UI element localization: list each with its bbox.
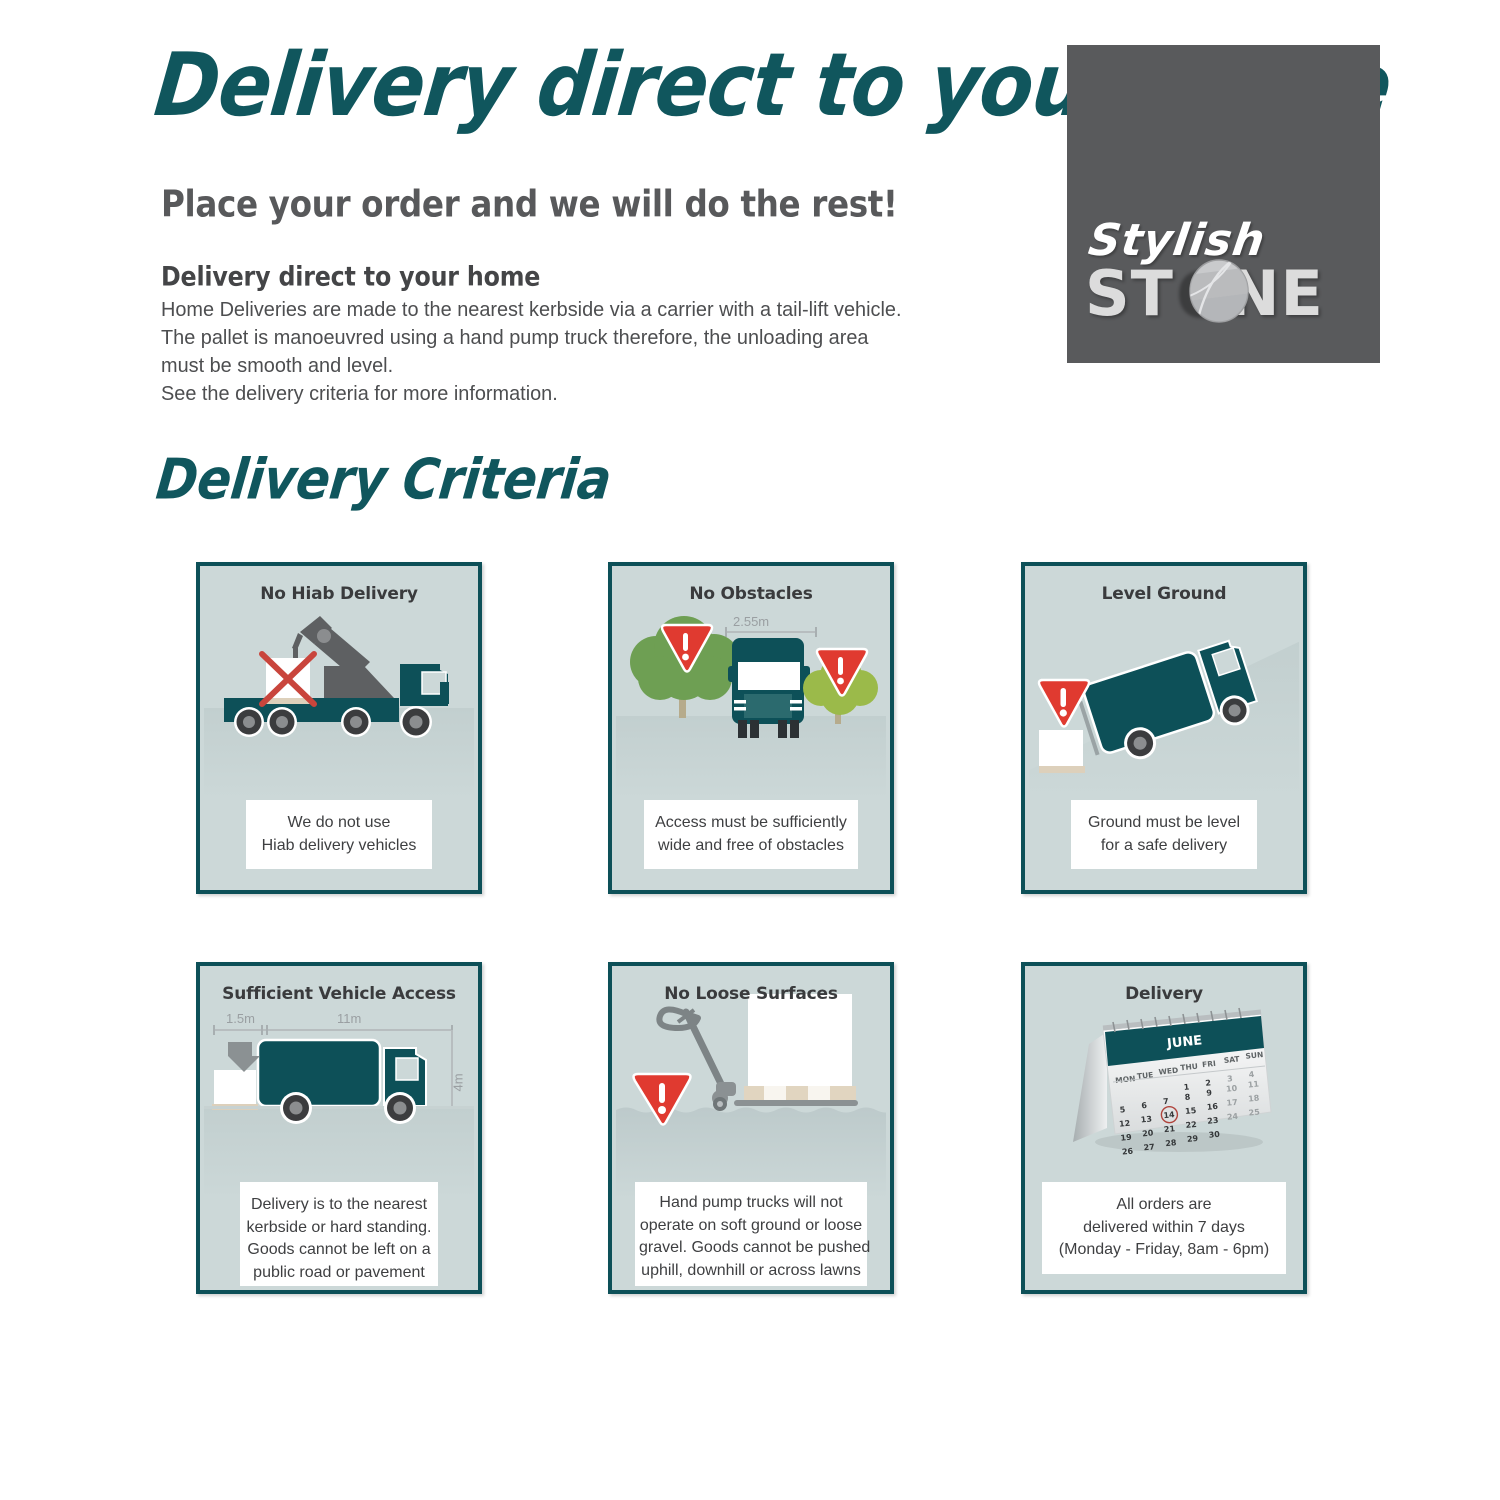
caption-line-3: gravel. Goods cannot be pushed bbox=[639, 1237, 863, 1260]
svg-text:17: 17 bbox=[1226, 1098, 1238, 1108]
svg-text:11: 11 bbox=[1247, 1079, 1259, 1089]
svg-text:29: 29 bbox=[1187, 1134, 1199, 1144]
caption-line-1: Access must be sufficiently bbox=[650, 812, 852, 835]
body-line-4: See the delivery criteria for more infor… bbox=[161, 380, 937, 408]
section-heading: Delivery direct to your home bbox=[161, 261, 540, 292]
truck-front-obstacles-icon bbox=[616, 570, 886, 800]
dimension-label-length: 11m bbox=[337, 1011, 361, 1026]
caption-line-2: kerbside or hard standing. bbox=[246, 1217, 432, 1240]
card-inner: Sufficient Vehicle Access 1.5m 11m 4m De… bbox=[204, 970, 474, 1286]
card-title: Level Ground bbox=[1029, 584, 1299, 604]
criteria-card-delivery[interactable]: JUNE MON TUE WED THU FRI SAT bbox=[1021, 962, 1307, 1294]
criteria-card-no-loose-surfaces[interactable]: No Loose Surfaces Hand pump trucks will … bbox=[608, 962, 894, 1294]
svg-text:30: 30 bbox=[1208, 1130, 1220, 1140]
card-title: No Hiab Delivery bbox=[204, 584, 474, 604]
caption-line-3: Goods cannot be left on a bbox=[246, 1239, 432, 1262]
card-caption: Hand pump trucks will not operate on sof… bbox=[635, 1182, 867, 1286]
svg-text:28: 28 bbox=[1165, 1138, 1177, 1148]
card-caption: We do not use Hiab delivery vehicles bbox=[246, 800, 432, 869]
card-caption: Ground must be level for a safe delivery bbox=[1071, 800, 1257, 869]
svg-text:18: 18 bbox=[1248, 1093, 1260, 1103]
caption-line-2: operate on soft ground or loose bbox=[639, 1215, 863, 1238]
hand-pump-truck-icon bbox=[616, 970, 886, 1200]
card-inner: Level Ground Ground must be level for a … bbox=[1029, 570, 1299, 886]
caption-line-2: for a safe delivery bbox=[1077, 835, 1251, 858]
card-inner: No Loose Surfaces Hand pump trucks will … bbox=[616, 970, 886, 1286]
brand-logo: Stylish STONE bbox=[1067, 45, 1380, 363]
svg-text:19: 19 bbox=[1120, 1133, 1132, 1143]
dimension-label-gap: 1.5m bbox=[226, 1011, 255, 1026]
criteria-card-sufficient-vehicle-access[interactable]: Sufficient Vehicle Access 1.5m 11m 4m De… bbox=[196, 962, 482, 1294]
desk-calendar-icon: JUNE MON TUE WED THU FRI SAT bbox=[1029, 970, 1299, 1200]
page-subtitle: Place your order and we will do the rest… bbox=[161, 183, 898, 226]
card-caption: All orders are delivered within 7 days (… bbox=[1042, 1182, 1286, 1274]
caption-line-2: Hiab delivery vehicles bbox=[252, 835, 426, 858]
svg-text:13: 13 bbox=[1140, 1114, 1152, 1124]
card-title: No Obstacles bbox=[616, 584, 886, 604]
body-line-2: The pallet is manoeuvred using a hand pu… bbox=[161, 324, 937, 352]
criteria-card-no-hiab-delivery[interactable]: No Hiab Delivery We do not use Hiab deli… bbox=[196, 562, 482, 894]
caption-line-3: (Monday - Friday, 8am - 6pm) bbox=[1048, 1239, 1280, 1262]
svg-text:16: 16 bbox=[1206, 1102, 1218, 1112]
caption-line-1: All orders are bbox=[1048, 1194, 1280, 1217]
svg-text:26: 26 bbox=[1121, 1146, 1133, 1156]
svg-text:3: 3 bbox=[1227, 1074, 1233, 1084]
criteria-card-level-ground[interactable]: Level Ground Ground must be level for a … bbox=[1021, 562, 1307, 894]
body-line-3: must be smooth and level. bbox=[161, 352, 937, 380]
calendar-day-header: SAT bbox=[1223, 1054, 1240, 1065]
svg-text:2: 2 bbox=[1205, 1078, 1211, 1088]
caption-line-1: We do not use bbox=[252, 812, 426, 835]
crane-truck-icon bbox=[204, 570, 474, 800]
svg-text:21: 21 bbox=[1163, 1124, 1175, 1134]
criteria-heading: Delivery Criteria bbox=[153, 447, 614, 512]
page-title: Delivery direct to your home bbox=[151, 42, 1060, 129]
logo-block-before: ST bbox=[1085, 257, 1174, 330]
svg-text:14: 14 bbox=[1163, 1110, 1175, 1120]
dimension-label-width: 2.55m bbox=[733, 614, 769, 629]
card-caption: Delivery is to the nearest kerbside or h… bbox=[240, 1182, 438, 1286]
caption-line-4: uphill, downhill or across lawns bbox=[639, 1260, 863, 1283]
caption-line-2: delivered within 7 days bbox=[1048, 1217, 1280, 1240]
caption-line-1: Hand pump trucks will not bbox=[639, 1192, 863, 1215]
card-title: Delivery bbox=[1029, 984, 1299, 1004]
svg-text:22: 22 bbox=[1185, 1120, 1197, 1130]
pebble-stone-icon bbox=[1187, 257, 1251, 323]
svg-text:20: 20 bbox=[1142, 1128, 1154, 1138]
caption-line-2: wide and free of obstacles bbox=[650, 835, 852, 858]
card-title: No Loose Surfaces bbox=[616, 984, 886, 1004]
poster-root: Delivery direct to your home Place your … bbox=[0, 0, 1500, 1500]
truck-on-slope-icon bbox=[1029, 570, 1299, 800]
criteria-card-no-obstacles[interactable]: No Obstacles 2.55m Access must be suffic… bbox=[608, 562, 894, 894]
dimension-label-height: 4m bbox=[451, 1073, 466, 1091]
card-inner: No Obstacles 2.55m Access must be suffic… bbox=[616, 570, 886, 886]
svg-text:15: 15 bbox=[1185, 1106, 1197, 1116]
body-copy: Home Deliveries are made to the nearest … bbox=[161, 296, 937, 408]
svg-text:24: 24 bbox=[1227, 1112, 1239, 1122]
calendar-day-header: THU bbox=[1180, 1062, 1198, 1073]
caption-line-1: Ground must be level bbox=[1077, 812, 1251, 835]
svg-text:7: 7 bbox=[1163, 1097, 1169, 1107]
caption-line-4: public road or pavement bbox=[246, 1262, 432, 1285]
card-title: Sufficient Vehicle Access bbox=[204, 984, 474, 1004]
caption-line-1: Delivery is to the nearest bbox=[246, 1194, 432, 1217]
svg-text:23: 23 bbox=[1207, 1116, 1219, 1126]
card-caption: Access must be sufficiently wide and fre… bbox=[644, 800, 858, 869]
calendar-day-header: SUN bbox=[1245, 1050, 1264, 1061]
svg-text:25: 25 bbox=[1248, 1107, 1260, 1117]
card-inner: No Hiab Delivery We do not use Hiab deli… bbox=[204, 570, 474, 886]
svg-text:27: 27 bbox=[1143, 1142, 1155, 1152]
truck-access-dimensions-icon bbox=[204, 970, 474, 1200]
body-line-1: Home Deliveries are made to the nearest … bbox=[161, 296, 937, 324]
calendar-day-header: FRI bbox=[1202, 1059, 1217, 1069]
card-inner: JUNE MON TUE WED THU FRI SAT bbox=[1029, 970, 1299, 1286]
svg-text:12: 12 bbox=[1119, 1119, 1131, 1129]
svg-text:10: 10 bbox=[1226, 1084, 1238, 1094]
